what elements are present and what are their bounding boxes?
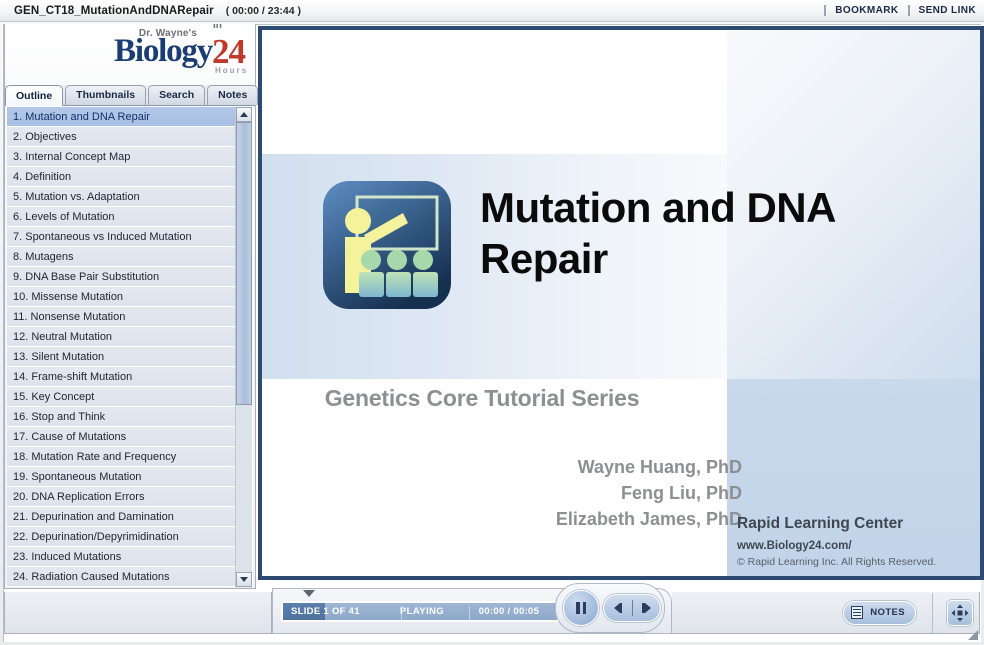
logo: Dr. Wayne's Biology In 24 Hours: [5, 24, 255, 86]
step-forward-icon: [642, 603, 651, 613]
outline-item[interactable]: 12. Neutral Mutation: [7, 327, 235, 347]
outline-list[interactable]: 1. Mutation and DNA Repair 2. Objectives…: [7, 107, 235, 587]
outline-item[interactable]: 7. Spontaneous vs Induced Mutation: [7, 227, 235, 247]
scroll-down-icon[interactable]: [236, 572, 252, 587]
progress-bar[interactable]: SLIDE 1 OF 41 PLAYING 00:00 / 00:05: [281, 601, 559, 622]
resize-grip-icon[interactable]: [968, 630, 978, 640]
notes-button[interactable]: NOTES: [843, 601, 916, 625]
logo-wordmark: Biology In 24 Hours: [114, 35, 245, 68]
fullscreen-expand-icon: [951, 604, 969, 622]
tab-outline[interactable]: Outline: [5, 85, 63, 106]
slide-viewport: Mutation and DNA Repair Genetics Core Tu…: [258, 26, 984, 580]
outline-item[interactable]: 17. Cause of Mutations: [7, 427, 235, 447]
slide-authors: Wayne Huang, PhD Feng Liu, PhD Elizabeth…: [422, 454, 742, 532]
scrollbar-thumb[interactable]: [236, 122, 252, 405]
outline-item[interactable]: 18. Mutation Rate and Frequency: [7, 447, 235, 467]
page-title: GEN_CT18_MutationAndDNARepair: [14, 5, 214, 17]
slide-counter: SLIDE 1 OF 41: [291, 606, 383, 617]
slide-branding: Rapid Learning Center www.Biology24.com/…: [737, 515, 977, 568]
logo-inner: Dr. Wayne's Biology In 24 Hours: [114, 28, 245, 68]
outline-item[interactable]: 2. Objectives: [7, 127, 235, 147]
tab-notes[interactable]: Notes: [207, 85, 258, 105]
sidebar: Dr. Wayne's Biology In 24 Hours Outline …: [4, 24, 256, 589]
outline-item[interactable]: 5. Mutation vs. Adaptation: [7, 187, 235, 207]
bookmark-button[interactable]: BOOKMARK: [835, 5, 898, 16]
scrollbar-track[interactable]: [236, 122, 252, 572]
outline-item[interactable]: 19. Spontaneous Mutation: [7, 467, 235, 487]
tab-thumbnails[interactable]: Thumbnails: [65, 85, 146, 105]
outline-item[interactable]: 21. Depurination and Damination: [7, 507, 235, 527]
brand-name: Rapid Learning Center: [737, 515, 977, 533]
slide-subtitle: Genetics Core Tutorial Series: [262, 385, 702, 412]
step-backward-icon: [614, 603, 623, 613]
titlebar-actions: BOOKMARK SEND LINK: [815, 5, 976, 16]
outline-scrollbar[interactable]: [235, 107, 251, 587]
outline-item[interactable]: 11. Nonsense Mutation: [7, 307, 235, 327]
previous-slide-button[interactable]: [604, 595, 632, 621]
separator: [824, 5, 826, 16]
skip-button-group: [603, 594, 661, 622]
bottom-left-panel: [4, 592, 272, 634]
logo-number-wrap: In 24 Hours: [212, 35, 245, 68]
outline-item[interactable]: 20. DNA Replication Errors: [7, 487, 235, 507]
outline-item[interactable]: 23. Induced Mutations: [7, 547, 235, 567]
outline-item[interactable]: 1. Mutation and DNA Repair: [7, 107, 235, 127]
playback-status: PLAYING: [383, 606, 461, 617]
slide: Mutation and DNA Repair Genetics Core Tu…: [262, 30, 980, 576]
logo-brand-name: Biology: [114, 35, 212, 68]
document-lines-icon: [851, 606, 863, 619]
fullscreen-button[interactable]: [947, 600, 973, 626]
outline-item[interactable]: 3. Internal Concept Map: [7, 147, 235, 167]
outline-item[interactable]: 15. Key Concept: [7, 387, 235, 407]
tab-search[interactable]: Search: [148, 85, 205, 105]
total-duration: ( 00:00 / 23:44 ): [226, 5, 301, 17]
separator: [908, 5, 910, 16]
transport-controls: SLIDE 1 OF 41 PLAYING 00:00 / 00:05: [272, 588, 672, 634]
slide-title: Mutation and DNA Repair: [480, 182, 910, 284]
pause-icon: [576, 602, 586, 614]
outline-panel: 1. Mutation and DNA Repair 2. Objectives…: [7, 107, 253, 587]
outline-item[interactable]: 9. DNA Base Pair Substitution: [7, 267, 235, 287]
caret-up-icon: [240, 112, 248, 117]
brand-url: www.Biology24.com/: [737, 540, 977, 552]
send-link-button[interactable]: SEND LINK: [919, 5, 977, 16]
slide-time: 00:00 / 00:05: [461, 606, 557, 617]
playback-button-group: [555, 583, 665, 633]
caret-down-icon: [240, 577, 248, 582]
logo-hours-label: Hours: [215, 66, 248, 75]
separator: [932, 593, 933, 633]
outline-item[interactable]: 10. Missense Mutation: [7, 287, 235, 307]
outline-item[interactable]: 22. Depurination/Depyrimidination: [7, 527, 235, 547]
outline-item[interactable]: 16. Stop and Think: [7, 407, 235, 427]
teacher-classroom-icon: [317, 175, 457, 315]
bottom-right-panel: NOTES: [672, 592, 980, 634]
title-bar: GEN_CT18_MutationAndDNARepair ( 00:00 / …: [0, 0, 984, 22]
sidebar-tabs: Outline Thumbnails Search Notes: [5, 85, 255, 106]
logo-in-label: In: [213, 24, 222, 31]
notes-button-label: NOTES: [870, 607, 905, 618]
outline-item[interactable]: 24. Radiation Caused Mutations: [7, 567, 235, 587]
outline-item[interactable]: 4. Definition: [7, 167, 235, 187]
brand-copyright: © Rapid Learning Inc. All Rights Reserve…: [737, 556, 977, 568]
bottom-control-bar: SLIDE 1 OF 41 PLAYING 00:00 / 00:05: [4, 592, 980, 640]
outline-item[interactable]: 8. Mutagens: [7, 247, 235, 267]
presentation-player: GEN_CT18_MutationAndDNARepair ( 00:00 / …: [0, 0, 984, 645]
outline-item[interactable]: 13. Silent Mutation: [7, 347, 235, 367]
outline-item[interactable]: 14. Frame-shift Mutation: [7, 367, 235, 387]
position-marker-icon: [303, 590, 315, 597]
pause-button[interactable]: [563, 590, 599, 626]
outline-item[interactable]: 6. Levels of Mutation: [7, 207, 235, 227]
next-slide-button[interactable]: [633, 595, 661, 621]
scroll-up-icon[interactable]: [236, 107, 252, 122]
